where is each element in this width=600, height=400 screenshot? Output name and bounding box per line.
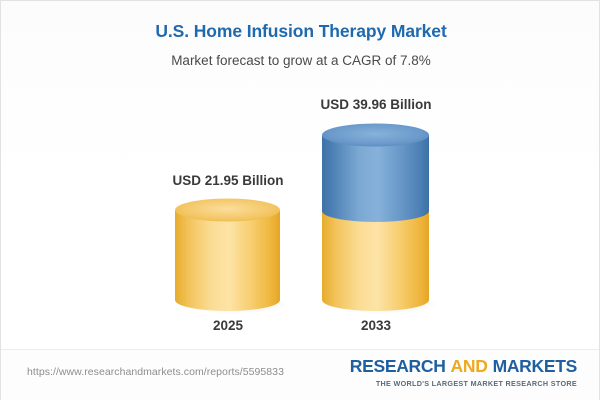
logo-word-markets: MARKETS bbox=[493, 356, 577, 376]
footer: https://www.researchandmarkets.com/repor… bbox=[1, 349, 599, 400]
report-url-link[interactable]: https://www.researchandmarkets.com/repor… bbox=[27, 366, 284, 378]
logo-tagline: THE WORLD'S LARGEST MARKET RESEARCH STOR… bbox=[350, 380, 577, 387]
research-and-markets-logo[interactable]: RESEARCHANDMARKETS THE WORLD'S LARGEST M… bbox=[350, 358, 577, 387]
bar-category-label-2033: 2033 bbox=[261, 318, 491, 333]
chart-figure: U.S. Home Infusion Therapy Market Market… bbox=[0, 0, 600, 400]
bar-group-2033: USD 39.96 Billion bbox=[322, 1, 429, 349]
logo-word-and: AND bbox=[451, 356, 488, 376]
bar-value-label-2033: USD 39.96 Billion bbox=[261, 97, 491, 112]
bar-cylinder-2025[interactable] bbox=[175, 197, 280, 313]
logo-word-research: RESEARCH bbox=[350, 356, 446, 376]
plot-area: USD 21.95 Billion bbox=[1, 1, 600, 349]
logo-wordmark: RESEARCHANDMARKETS bbox=[350, 358, 577, 376]
bar-group-2025: USD 21.95 Billion bbox=[175, 1, 280, 349]
bar-value-label-2025: USD 21.95 Billion bbox=[113, 173, 343, 188]
bar-cylinder-2033[interactable] bbox=[322, 122, 429, 314]
